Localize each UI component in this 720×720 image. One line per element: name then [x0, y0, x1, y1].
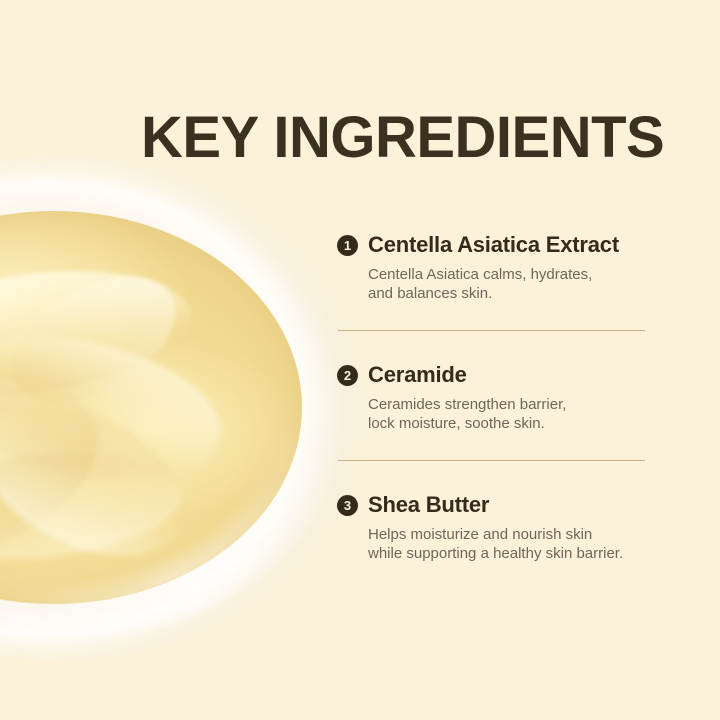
number-badge-icon: 1: [337, 235, 358, 256]
ingredient-item-1: 1 Centella Asiatica Extract Centella Asi…: [337, 232, 657, 303]
ingredient-header: 1 Centella Asiatica Extract: [337, 232, 657, 258]
number-badge-icon: 2: [337, 365, 358, 386]
ingredient-title: Shea Butter: [368, 492, 489, 518]
ingredient-description: Centella Asiatica calms, hydrates, and b…: [368, 265, 657, 303]
product-photo-cream-jar: [0, 155, 370, 660]
ingredient-list: 1 Centella Asiatica Extract Centella Asi…: [337, 232, 657, 563]
ingredient-title: Centella Asiatica Extract: [368, 232, 619, 258]
ingredient-header: 2 Ceramide: [337, 362, 657, 388]
section-divider: [338, 460, 645, 461]
number-badge-icon: 3: [337, 495, 358, 516]
spacer: [337, 461, 657, 492]
ingredient-description: Helps moisturize and nourish skin while …: [368, 525, 657, 563]
spacer: [337, 331, 657, 362]
ingredient-header: 3 Shea Butter: [337, 492, 657, 518]
key-ingredients-poster: KEY INGREDIENTS 1 Centella Asiatica Extr…: [0, 0, 720, 720]
ingredient-item-3: 3 Shea Butter Helps moisturize and nouri…: [337, 492, 657, 563]
ingredient-title: Ceramide: [368, 362, 467, 388]
jar-rim-highlight: [0, 170, 351, 645]
page-title: KEY INGREDIENTS: [141, 107, 664, 169]
ingredient-item-2: 2 Ceramide Ceramides strengthen barrier,…: [337, 362, 657, 433]
ingredient-description: Ceramides strengthen barrier, lock moist…: [368, 395, 657, 433]
section-divider: [338, 330, 645, 331]
